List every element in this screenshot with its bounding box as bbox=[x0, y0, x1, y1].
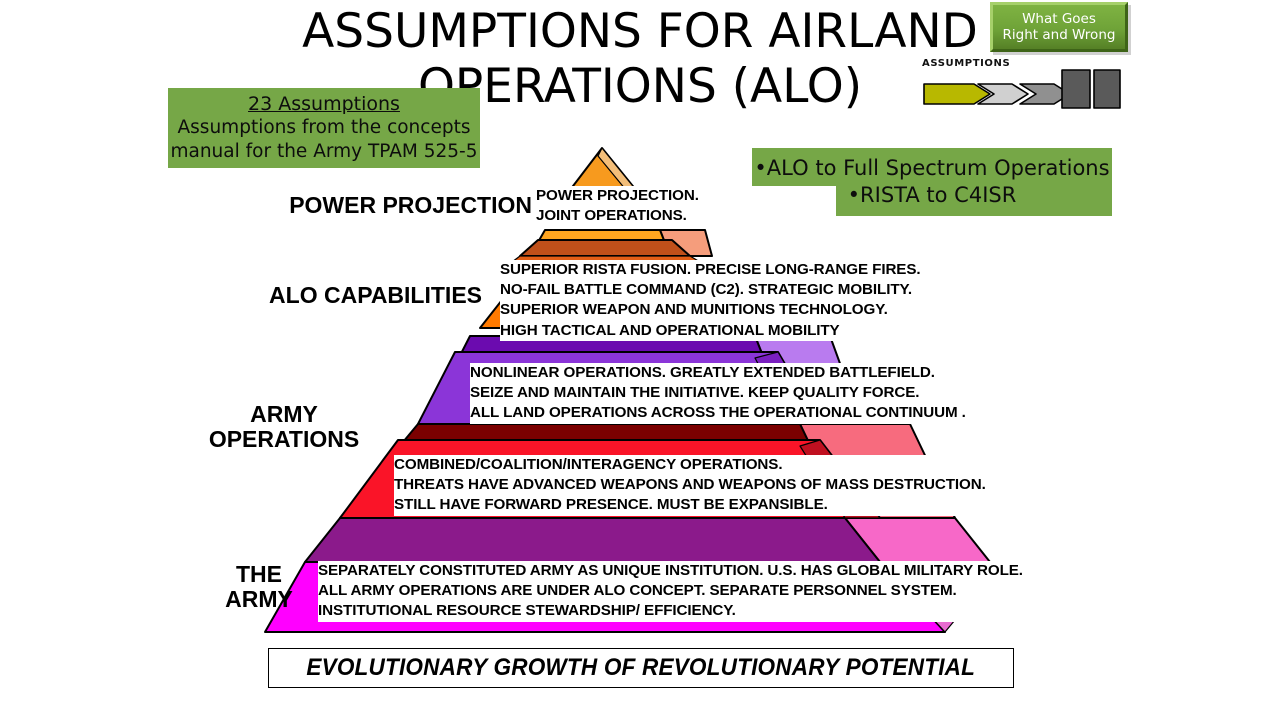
tier-label-army-operations: ARMY OPERATIONS bbox=[150, 402, 418, 453]
what-goes-button-line1: What Goes bbox=[1022, 11, 1096, 27]
callout-23-assumptions-title: 23 Assumptions bbox=[248, 92, 400, 117]
tier-text-army-operations-upper: NONLINEAR OPERATIONS. GREATLY EXTENDED B… bbox=[470, 363, 1015, 424]
tier-label-alo-capabilities: ALO CAPABILITIES bbox=[172, 283, 482, 308]
process-block-4-icon bbox=[1062, 70, 1090, 108]
process-block-5-icon bbox=[1094, 70, 1120, 108]
bottom-banner-text: EVOLUTIONARY GROWTH OF REVOLUTIONARY POT… bbox=[307, 654, 976, 682]
process-arrow-1-icon bbox=[924, 84, 990, 104]
callout-23-assumptions: 23 Assumptions Assumptions from the conc… bbox=[168, 88, 480, 168]
tier-alo-capabilities-top bbox=[530, 230, 670, 256]
tier-text-power-projection: POWER PROJECTION. JOINT OPERATIONS. bbox=[536, 186, 836, 226]
callout-transitions-line2: •RISTA to C4ISR bbox=[848, 182, 1017, 209]
tier-text-army-operations-lower: COMBINED/COALITION/INTERAGENCY OPERATION… bbox=[394, 455, 1054, 516]
what-goes-button-line2: Right and Wrong bbox=[1003, 27, 1116, 43]
tier-alo-capabilities-front bbox=[520, 240, 690, 256]
tier-the-army-top bbox=[305, 518, 880, 562]
tier-text-alo-capabilities: SUPERIOR RISTA FUSION. PRECISE LONG-RANG… bbox=[500, 260, 1000, 341]
callout-23-assumptions-body: Assumptions from the concepts manual for… bbox=[168, 116, 480, 164]
callout-transitions-line1: •ALO to Full Spectrum Operations bbox=[754, 155, 1109, 182]
assumptions-process-label: ASSUMPTIONS bbox=[922, 58, 1010, 69]
assumptions-process-diagram: ASSUMPTIONS bbox=[922, 58, 1122, 112]
tier-text-the-army: SEPARATELY CONSTITUTED ARMY AS UNIQUE IN… bbox=[318, 561, 1093, 622]
what-goes-right-and-wrong-button[interactable]: What Goes Right and Wrong bbox=[990, 2, 1128, 52]
tier-power-projection-apex bbox=[570, 148, 636, 190]
tier-alo-capabilities-side bbox=[660, 230, 712, 256]
tier-label-power-projection: POWER PROJECTION bbox=[210, 193, 532, 218]
tier-power-projection-apex-side bbox=[598, 148, 636, 190]
bottom-banner: EVOLUTIONARY GROWTH OF REVOLUTIONARY POT… bbox=[268, 648, 1014, 688]
tier-the-army-side bbox=[845, 518, 990, 562]
